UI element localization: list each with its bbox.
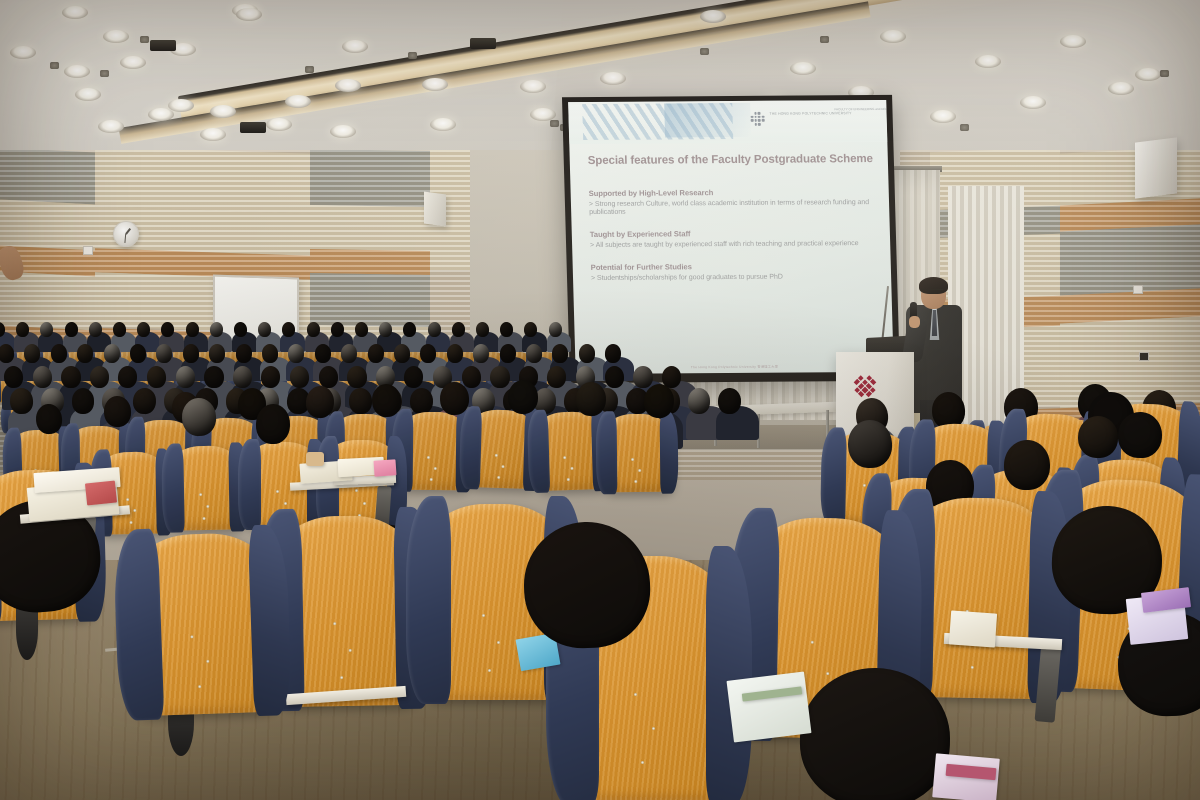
auditorium-seat[interactable]: [602, 414, 673, 493]
audience-head: [112, 322, 126, 338]
slide-section-bullet: > All subjects are taught by experienced…: [590, 240, 876, 250]
downlight-icon: [210, 105, 236, 118]
seat-fabric-left: [406, 496, 452, 704]
audience-head: [403, 322, 416, 337]
ceiling-speaker-icon: [240, 122, 266, 133]
downlight-icon: [335, 79, 361, 92]
wall-panel: [310, 249, 430, 275]
downlight-icon: [1020, 96, 1046, 109]
audience-head: [209, 322, 223, 338]
seat-screw: [863, 483, 866, 486]
audience-head: [235, 343, 252, 363]
audience-head: [61, 366, 80, 388]
downlight-icon: [430, 118, 456, 131]
slide-diagonal-graphic-2: [664, 103, 751, 138]
seat-screw: [971, 666, 974, 669]
seat-screw: [652, 727, 655, 730]
downlight-icon: [148, 108, 174, 121]
audience-head: [473, 344, 490, 363]
slide-section-heading: Supported by High-Level Research: [589, 187, 875, 198]
downlight-icon: [790, 62, 816, 75]
eyeglasses-icon: [921, 289, 943, 294]
wall-panel: [310, 273, 430, 327]
downlight-icon: [975, 55, 1001, 68]
slide-section-heading: Potential for Further Studies: [591, 261, 877, 272]
auditorium-seat[interactable]: [898, 497, 1057, 700]
audience-head: [32, 366, 52, 389]
wall-panel: [95, 150, 310, 214]
slide-section: Potential for Further Studies > Students…: [591, 261, 878, 283]
audience-head: [16, 322, 30, 337]
audience-head: [410, 388, 433, 415]
seat-screw: [284, 502, 287, 505]
sprinkler-head-icon: [550, 120, 559, 127]
wall-outlet[interactable]: [1133, 285, 1143, 294]
audience-head: [1117, 411, 1163, 459]
audience-head: [209, 344, 226, 363]
audience-head: [185, 322, 199, 337]
audience-head: [548, 322, 562, 337]
wall-panel: [310, 150, 430, 207]
downlight-icon: [200, 128, 226, 141]
wall-control-unit: [1135, 137, 1177, 198]
audience-head: [348, 388, 371, 415]
audience-head: [579, 344, 595, 363]
seat-screw: [641, 761, 644, 764]
audience-head: [103, 395, 131, 427]
sprinkler-head-icon: [50, 62, 59, 69]
downlight-icon: [1135, 68, 1161, 81]
slide-logo-text: THE HONG KONG POLYTECHNIC UNIVERSITY: [769, 111, 851, 116]
downlight-icon: [10, 46, 36, 59]
auditorium-seat[interactable]: [268, 515, 421, 708]
audience-head: [161, 322, 174, 337]
downlight-icon: [930, 110, 956, 123]
downlight-icon: [98, 120, 124, 133]
projection-screen: THE HONG KONG POLYTECHNIC UNIVERSITY FAC…: [562, 95, 900, 383]
seat-screw: [130, 521, 133, 524]
audience-head: [1004, 440, 1051, 491]
downlight-icon: [880, 30, 906, 43]
auditorium-seat[interactable]: [167, 445, 242, 530]
downlight-icon: [236, 8, 262, 21]
audience-head: [447, 344, 463, 363]
sprinkler-head-icon: [700, 48, 709, 55]
seat-screw: [488, 669, 491, 672]
seat-fabric-left: [238, 439, 261, 530]
seat-fabric-left: [820, 427, 847, 525]
seat-screw: [363, 502, 366, 505]
sprinkler-head-icon: [100, 70, 109, 77]
audience-head: [255, 403, 290, 444]
sprinkler-head-icon: [408, 52, 417, 59]
audience-head: [500, 322, 514, 337]
downlight-icon: [422, 78, 448, 91]
audience-head: [51, 344, 67, 363]
audience-head: [347, 366, 366, 388]
held-item: [306, 452, 324, 466]
downlight-icon: [120, 56, 146, 69]
audience-head: [718, 388, 741, 415]
audience-head: [367, 343, 384, 363]
downlight-icon: [600, 72, 626, 85]
downlight-icon: [1060, 35, 1086, 48]
audience-head: [77, 344, 94, 363]
downlight-icon: [62, 6, 88, 19]
audience-head: [633, 366, 652, 388]
seat-fabric-left: [527, 409, 550, 492]
audience-head: [604, 366, 624, 389]
seat-fabric-left: [596, 411, 618, 494]
auditorium-seat[interactable]: [125, 531, 279, 716]
sprinkler-head-icon: [1160, 70, 1169, 77]
audience-head: [605, 344, 622, 363]
seat-screw: [430, 477, 433, 480]
audience-head: [1078, 416, 1119, 459]
slide-body: Special features of the Faculty Postgrad…: [588, 152, 878, 296]
downlight-icon: [1108, 82, 1134, 95]
seat-fabric-left: [459, 406, 482, 489]
slide-section-bullet: > Studentships/scholarships for good gra…: [591, 273, 877, 283]
audience-head: [72, 388, 95, 414]
slide-title: Special features of the Faculty Postgrad…: [588, 152, 874, 168]
audience-head: [103, 343, 120, 363]
audience-head: [439, 381, 469, 415]
audience-head: [88, 322, 102, 338]
downlight-icon: [266, 118, 292, 131]
audience-head: [354, 322, 368, 338]
audience-head: [508, 380, 538, 414]
auditorium-seat[interactable]: [533, 411, 605, 491]
audience-head: [9, 387, 33, 414]
downlight-icon: [520, 80, 546, 93]
sprinkler-head-icon: [140, 36, 149, 43]
slide-section-bullet: > Strong research Culture, world class a…: [589, 199, 876, 218]
downlight-icon: [64, 65, 90, 78]
seat-screw: [191, 635, 194, 638]
auditorium-seat[interactable]: [465, 409, 537, 489]
seat-screw: [340, 676, 343, 679]
audience-head: [64, 322, 78, 337]
ceiling-speaker-icon: [150, 40, 176, 51]
seat-screw: [206, 660, 209, 663]
sprinkler-head-icon: [305, 66, 314, 73]
downlight-icon: [700, 10, 726, 23]
audience-head: [137, 322, 151, 337]
seat-screw: [482, 614, 485, 617]
wall-panel: [0, 150, 95, 204]
ceiling-speaker-icon: [470, 38, 496, 49]
audience-head: [499, 343, 516, 363]
seat-fabric-right: [706, 546, 752, 800]
auditorium-seat[interactable]: [398, 412, 469, 491]
audience-head: [258, 322, 272, 337]
seat-screw: [634, 693, 637, 696]
audience-head: [379, 322, 393, 337]
sprinkler-head-icon: [960, 124, 969, 131]
audience-head: [451, 322, 465, 338]
seat-screw: [567, 477, 570, 480]
red-brochure: [85, 480, 117, 505]
projected-slide: THE HONG KONG POLYTECHNIC UNIVERSITY FAC…: [568, 100, 894, 374]
audience-head: [175, 366, 195, 389]
downlight-icon: [342, 40, 368, 53]
downlight-icon: [330, 125, 356, 138]
polyu-diamond-logo-icon: [750, 112, 765, 127]
audience-head: [315, 344, 331, 363]
audience-head: [306, 322, 320, 337]
audience-head: [233, 322, 247, 338]
slide-section: Taught by Experienced Staff > All subjec…: [590, 228, 877, 250]
audience-head: [461, 366, 481, 389]
audience-head: [524, 322, 537, 337]
seat-fabric-left: [113, 528, 164, 720]
seat-screw: [349, 649, 352, 652]
wall-panel: [1060, 150, 1200, 206]
analog-wall-clock-icon: [113, 221, 139, 247]
notebook: [727, 671, 812, 742]
slide-section-heading: Taught by Experienced Staff: [590, 228, 876, 239]
presenter-hand: [909, 316, 920, 328]
audience-head: [282, 322, 295, 337]
audience-head: [490, 366, 509, 388]
slide-logo-text-right: FACULTY OF ENGINEERING and DEPARTMENT 工程…: [834, 108, 893, 112]
audience-head: [183, 344, 199, 363]
audience-head: [330, 322, 344, 338]
wall-speaker-icon: [424, 191, 446, 226]
seat-screw: [634, 480, 637, 483]
audience-head: [40, 322, 53, 337]
audience-head: [341, 344, 358, 363]
wall-panel: [1060, 224, 1200, 295]
seat-screw: [203, 517, 206, 520]
wall-outlet[interactable]: [1139, 352, 1149, 361]
lecture-hall-photo: THE HONG KONG POLYTECHNIC UNIVERSITY FAC…: [0, 0, 1200, 800]
audience-head: [688, 388, 711, 414]
audience-head: [427, 322, 441, 337]
wall-panel: [0, 200, 95, 251]
seat-screw: [497, 475, 500, 478]
seat-fabric-left: [161, 443, 185, 532]
notebook: [949, 610, 997, 647]
pink-brochure: [373, 459, 396, 476]
downlight-icon: [103, 30, 129, 43]
slide-section: Supported by High-Level Research > Stron…: [589, 187, 876, 217]
audience-head: [475, 322, 489, 338]
audience-head: [204, 366, 223, 388]
downlight-icon: [285, 95, 311, 108]
audience-head: [847, 419, 893, 469]
downlight-icon: [75, 88, 101, 101]
wall-panel: [310, 205, 430, 251]
wall-outlet[interactable]: [83, 246, 93, 255]
sprinkler-head-icon: [820, 36, 829, 43]
